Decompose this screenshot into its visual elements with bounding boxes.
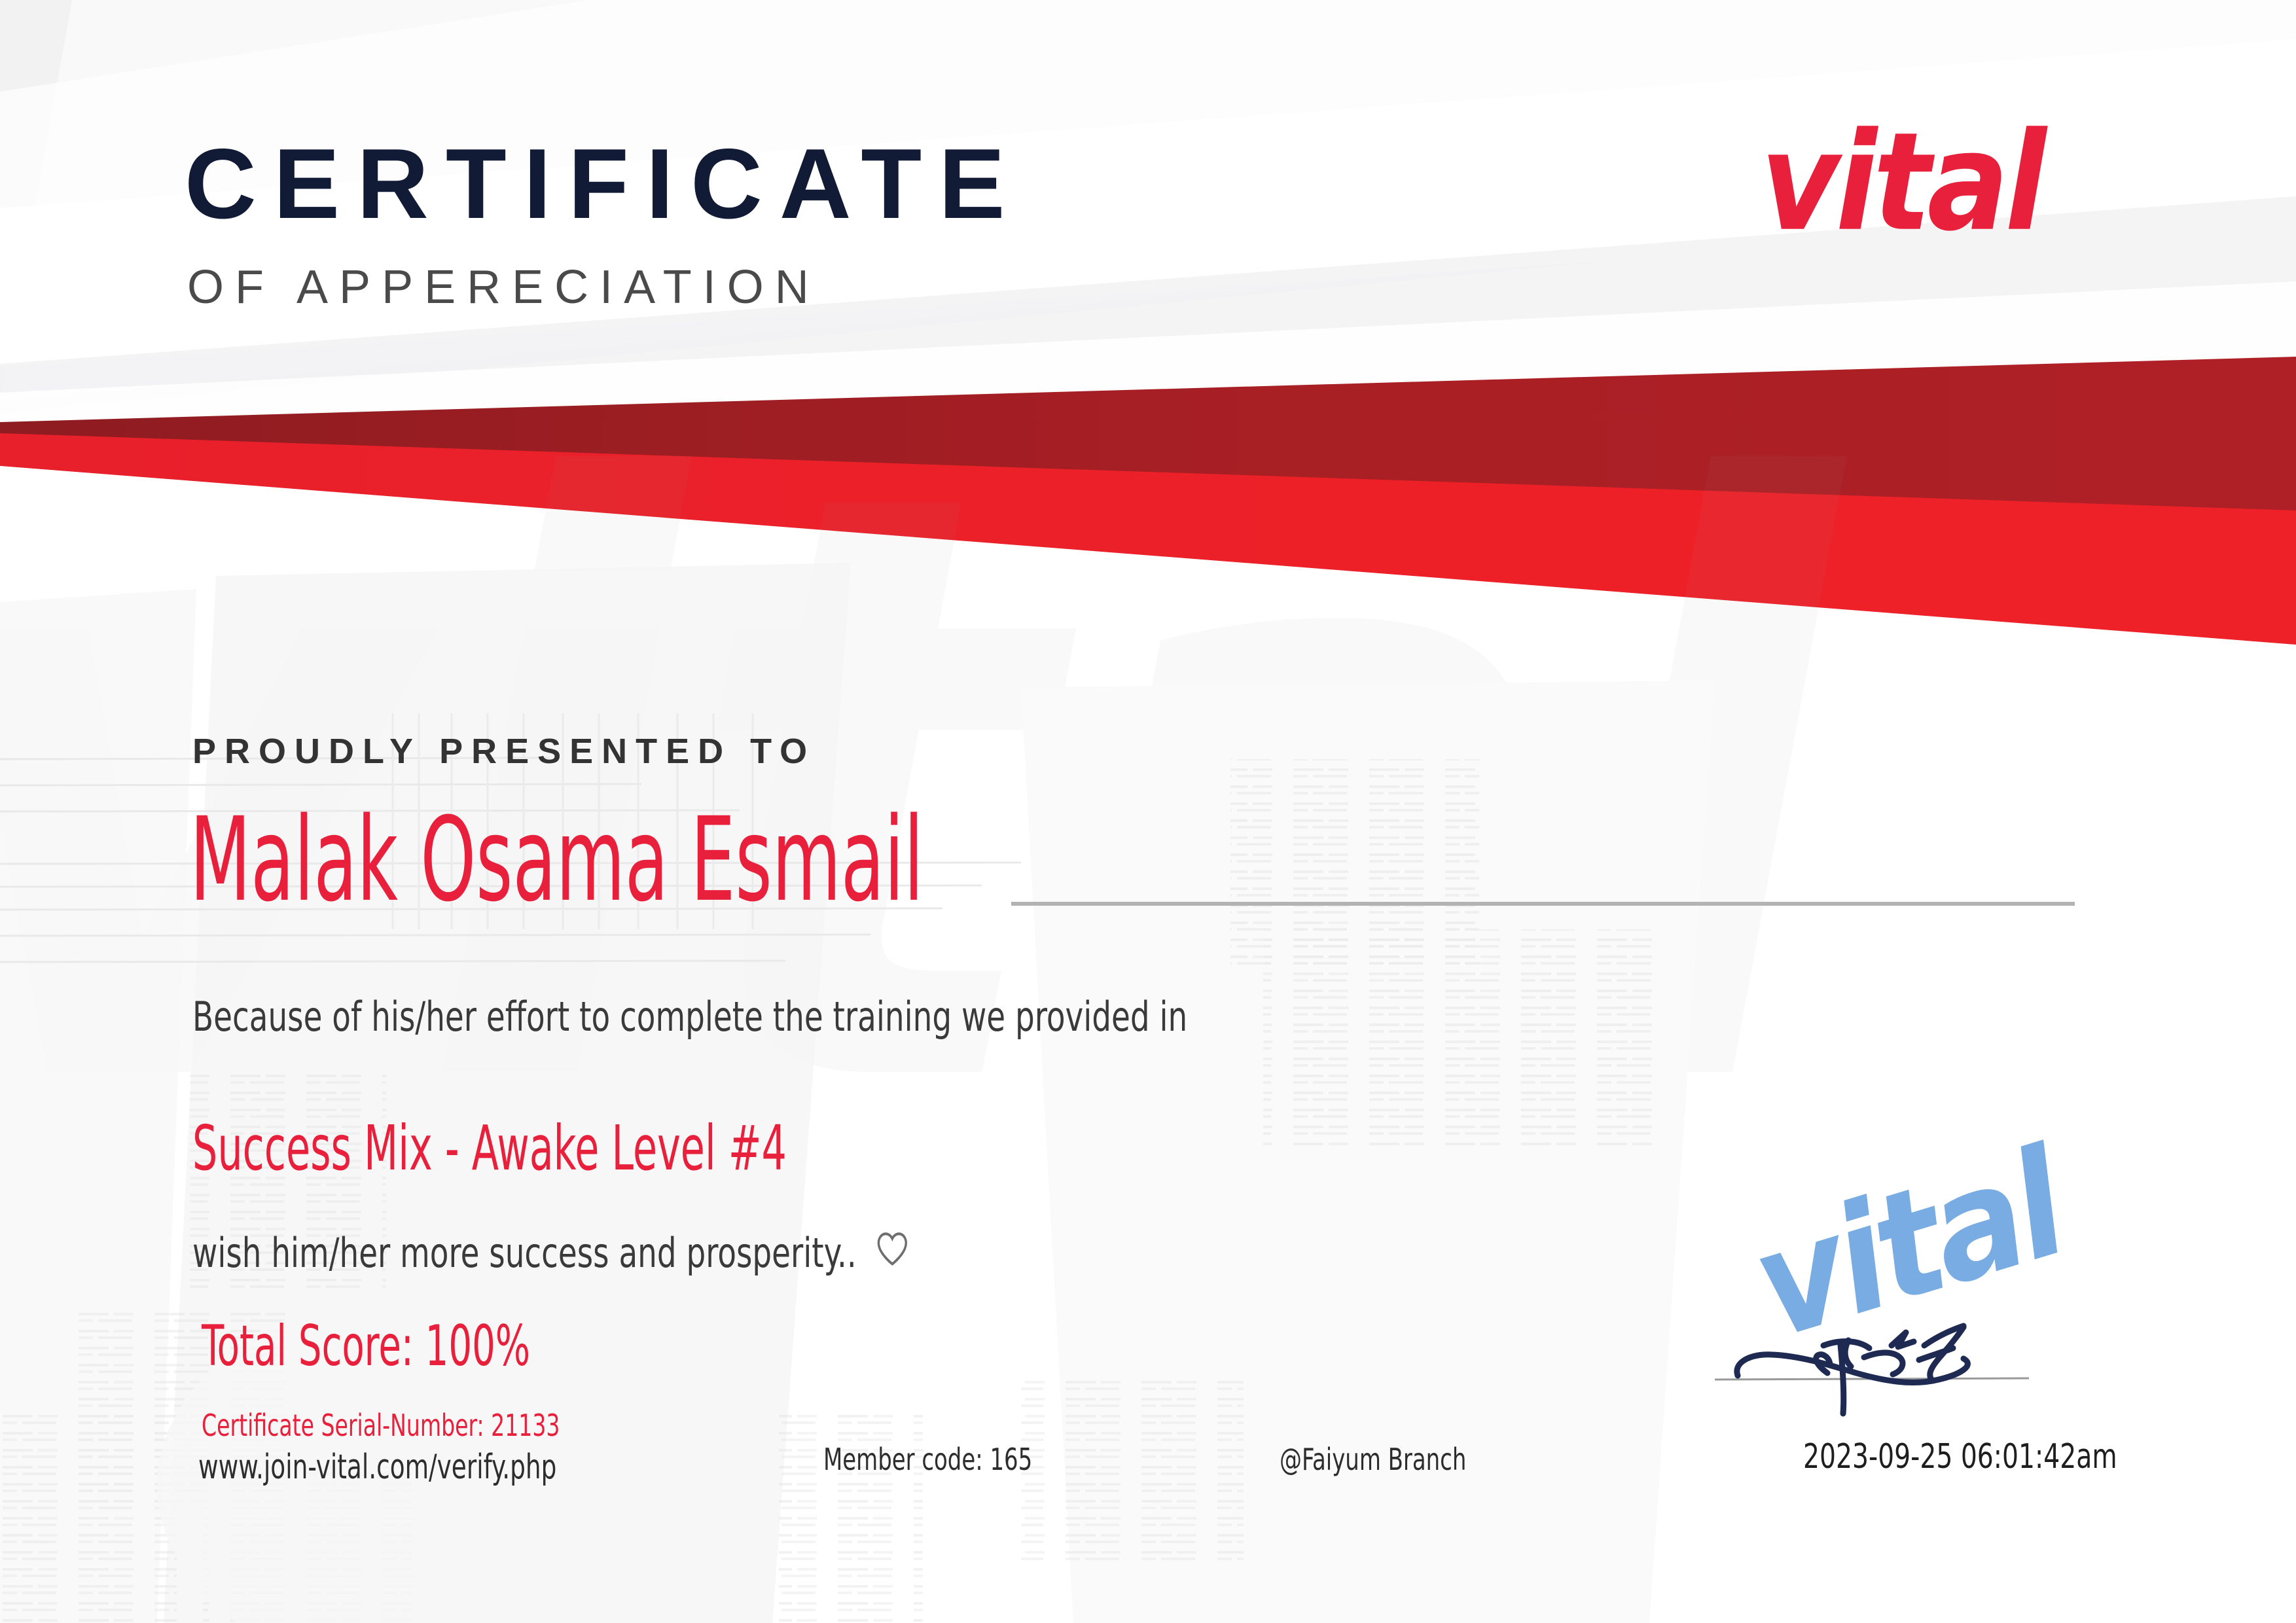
- heart-outline-icon: [875, 1229, 909, 1277]
- verification-url[interactable]: www.join-vital.com/verify.php: [198, 1448, 556, 1487]
- recipient-name: Malak Osama Esmail: [190, 793, 924, 927]
- stamp-vital-text: vital: [1739, 1130, 2077, 1361]
- closing-text: wish him/her more success and prosperity…: [192, 1229, 857, 1277]
- total-score: Total Score: 100%: [202, 1314, 530, 1379]
- issue-timestamp: 2023-09-25 06:01:42am: [1803, 1437, 2117, 1476]
- closing-text-row: wish him/her more success and prosperity…: [192, 1229, 909, 1277]
- presented-to-label: PROUDLY PRESENTED TO: [192, 731, 816, 772]
- course-title: Success Mix - Awake Level #4: [192, 1113, 787, 1185]
- reason-text: Because of his/her effort to complete th…: [192, 993, 1187, 1041]
- certificate-page: vital: [0, 0, 2296, 1623]
- certificate-header: CERTIFICATE OF APPERECIATION: [185, 134, 1022, 311]
- vital-logo: vital: [1761, 115, 2043, 250]
- texture-watermark-center: [1230, 759, 1669, 1145]
- certificate-serial-number: Certificate Serial-Number: 21133: [202, 1408, 560, 1443]
- name-underline-rule: [1011, 902, 2075, 906]
- branch-name: @Faiyum Branch: [1280, 1442, 1466, 1477]
- member-code: Member code: 165: [823, 1442, 1032, 1477]
- page-title: CERTIFICATE: [185, 134, 1022, 234]
- page-subtitle: OF APPERECIATION: [187, 264, 1022, 311]
